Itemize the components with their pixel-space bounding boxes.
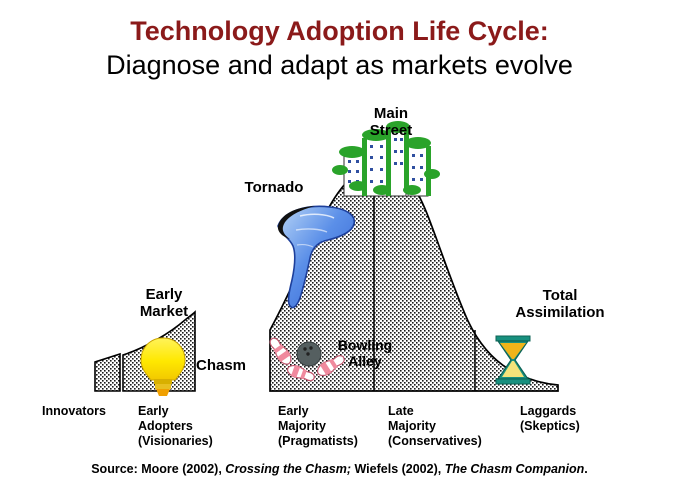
- label-tornado: Tornado: [214, 180, 334, 197]
- label-bowling-alley: Bowling Alley: [310, 338, 420, 369]
- page-title: Technology Adoption Life Cycle:: [0, 16, 679, 47]
- source-citation: Source: Moore (2002), Crossing the Chasm…: [0, 462, 679, 476]
- label-main-street: Main Street: [336, 106, 446, 140]
- source-prefix: Source: Moore (2002),: [91, 462, 225, 476]
- page-subtitle: Diagnose and adapt as markets evolve: [0, 49, 679, 81]
- source-suffix: .: [584, 462, 587, 476]
- source-book-1: Crossing the Chasm;: [225, 462, 351, 476]
- hourglass-icon: [496, 336, 530, 384]
- category-label-early-adopters: Early Adopters (Visionaries): [138, 404, 244, 448]
- category-label-late-majority: Late Majority (Conservatives): [388, 404, 516, 448]
- label-total-assimilation: Total Assimilation: [484, 288, 636, 322]
- segment-innovators: [95, 354, 120, 391]
- label-early-market: Early Market: [104, 287, 224, 321]
- category-label-innovators: Innovators: [42, 404, 138, 419]
- category-label-early-majority: Early Majority (Pragmatists): [278, 404, 398, 448]
- source-book-2: The Chasm Companion: [445, 462, 585, 476]
- category-label-laggards: Laggards (Skeptics): [520, 404, 640, 434]
- source-middle: Wiefels (2002),: [351, 462, 445, 476]
- slide-canvas: Technology Adoption Life Cycle: Diagnose…: [0, 0, 679, 494]
- title-block: Technology Adoption Life Cycle: Diagnose…: [0, 16, 679, 81]
- label-chasm: Chasm: [196, 358, 276, 375]
